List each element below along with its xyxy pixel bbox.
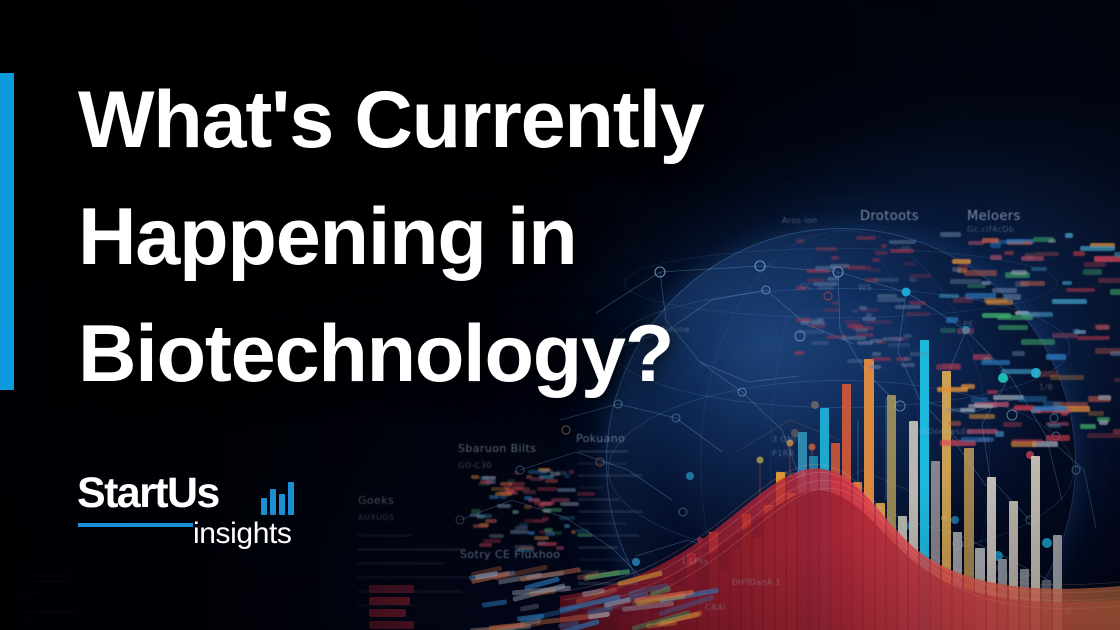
startus-insights-logo[interactable]: StartUs insights (77, 472, 309, 550)
logo-wordmark: StartUs (77, 472, 219, 515)
hero-card: DrotootsMeloersGc.cif4cDbAros ionNaoneSb… (0, 0, 1120, 630)
page-title: What's Currently Happening in Biotechnol… (78, 62, 978, 413)
logo-underline-rule (78, 523, 193, 527)
left-accent-stripe (0, 73, 14, 390)
title-line-1: What's Currently (78, 62, 978, 179)
bar-chart-icon (261, 478, 301, 515)
stream-ribbons (560, 410, 1120, 630)
title-line-3: Biotechnology? (78, 296, 978, 413)
title-line-2: Happening in (78, 179, 978, 296)
logo-subtitle: insights (193, 518, 292, 550)
